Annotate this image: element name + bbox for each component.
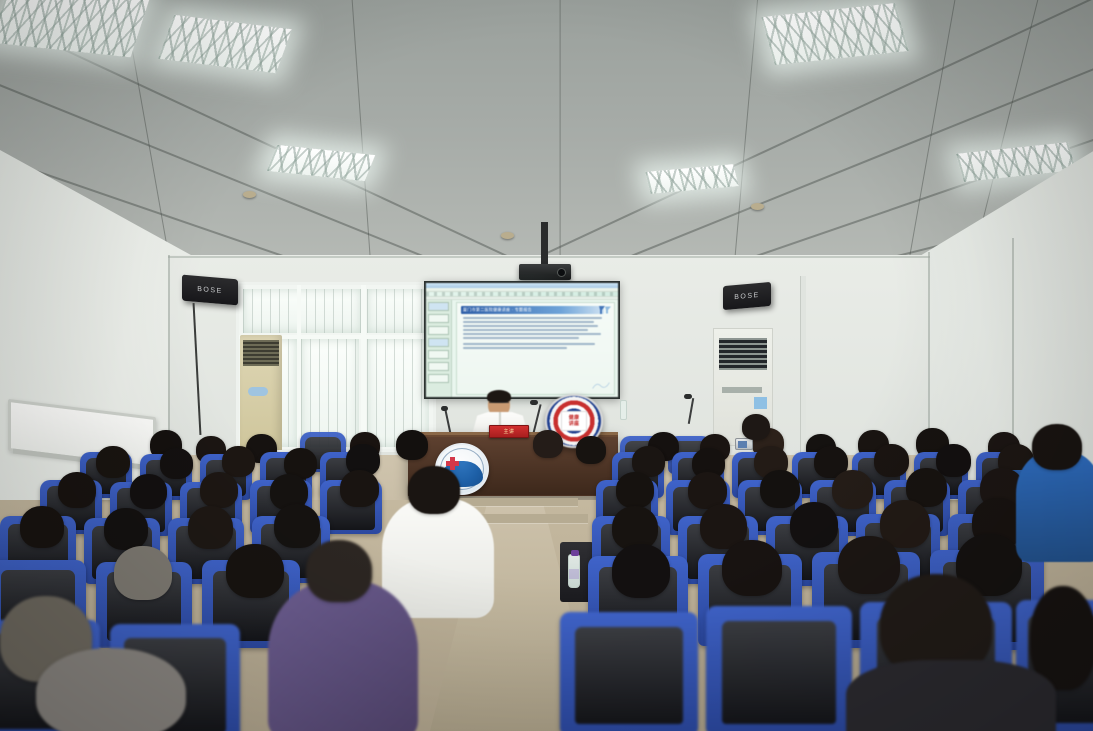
audience-head xyxy=(130,474,167,509)
nameplate-text: 主讲 xyxy=(490,426,528,439)
slide-thumbnail xyxy=(428,326,449,335)
slide-thumbnail xyxy=(428,338,449,347)
audience-head xyxy=(340,470,379,507)
microphone-head-icon xyxy=(441,406,448,411)
audience-head xyxy=(576,436,606,464)
ac-grill-icon xyxy=(719,338,767,370)
bose-speaker-right: BOSE xyxy=(723,282,771,310)
slide-thumbnail xyxy=(428,314,449,323)
audience-person-purple-shirt xyxy=(268,580,418,731)
bose-brand-label: BOSE xyxy=(723,291,771,302)
audience-head xyxy=(222,446,255,477)
audience-head xyxy=(114,546,172,600)
slide-thumbnail xyxy=(428,350,449,359)
seat xyxy=(706,606,852,731)
wall-ceiling-seam xyxy=(168,256,930,258)
audience-head xyxy=(58,472,96,508)
audience-head xyxy=(188,506,233,549)
podium-nameplate: 主讲 xyxy=(489,425,529,438)
audience-head xyxy=(936,444,971,477)
seat xyxy=(560,612,698,731)
banner-text-plate: 健康 讲座 xyxy=(561,411,587,431)
audience-head xyxy=(226,544,284,598)
water-bottle xyxy=(568,554,580,588)
microphone-head-icon xyxy=(684,394,692,399)
slide-canvas: 厦门市第二医院健康讲座 · 专题报告 xyxy=(452,300,618,397)
audience-head xyxy=(790,502,838,548)
slide-watermark-icon xyxy=(592,380,610,390)
compact-camera xyxy=(735,438,753,450)
slide-title-banner: 厦门市第二医院健康讲座 · 专题报告 xyxy=(461,306,604,314)
audience-head xyxy=(742,414,770,440)
ac-grill-icon xyxy=(243,340,279,366)
audience-head xyxy=(832,470,873,509)
microphone-head-icon xyxy=(530,400,538,405)
slide-thumbnail xyxy=(428,362,449,371)
air-conditioner-left xyxy=(240,335,282,450)
projector-lens-icon xyxy=(557,268,566,277)
audience-head xyxy=(722,540,782,596)
audience-head xyxy=(408,466,460,514)
ceiling-projector xyxy=(519,264,571,280)
audience-head xyxy=(874,444,909,477)
slide-body-text xyxy=(463,317,608,390)
slide-corner-logo-icon xyxy=(598,305,612,316)
audience-head xyxy=(160,448,193,479)
smoke-detector-icon xyxy=(243,191,256,198)
current-slide: 厦门市第二医院健康讲座 · 专题报告 xyxy=(456,302,615,395)
bose-speaker-left: BOSE xyxy=(182,275,238,306)
audience-head xyxy=(104,508,148,550)
podium-water-bottle xyxy=(620,400,627,420)
slide-thumbnail xyxy=(428,302,449,311)
audience-head xyxy=(760,470,800,508)
banner-text-line2: 讲座 xyxy=(569,421,580,427)
audience-head xyxy=(396,430,428,460)
window-pane-transom xyxy=(243,289,361,333)
ac-sticker xyxy=(754,397,767,409)
red-cross-icon xyxy=(446,457,459,470)
ac-brand-badge xyxy=(248,387,268,396)
smoke-detector-icon xyxy=(501,232,514,239)
projector-mount-pole xyxy=(541,222,548,270)
audience-head xyxy=(36,648,186,731)
window-pane-transom xyxy=(367,289,429,333)
audience-head xyxy=(96,446,130,478)
slide-thumbnail-sidebar xyxy=(426,300,452,397)
audience-head xyxy=(306,540,372,602)
audience-head xyxy=(616,472,654,508)
audience-head xyxy=(1032,424,1082,470)
smoke-detector-icon xyxy=(751,203,764,210)
audience-head xyxy=(274,504,320,548)
lecture-hall-photograph: BOSE BOSE xyxy=(0,0,1093,731)
audience-head xyxy=(612,544,670,598)
projection-screen: 厦门市第二医院健康讲座 · 专题报告 xyxy=(424,281,620,399)
presenter-glasses-icon xyxy=(489,402,509,406)
bottle-cap xyxy=(571,550,579,556)
slide-thumbnail xyxy=(428,374,449,383)
bottle-label xyxy=(569,569,579,579)
window-pane xyxy=(301,339,359,447)
audience-head xyxy=(838,536,900,594)
ac-conduit-pipe xyxy=(800,276,806,466)
slide-title-text: 厦门市第二医院健康讲座 · 专题报告 xyxy=(461,306,604,314)
audience-head xyxy=(533,430,563,458)
audience-shoulders xyxy=(846,660,1056,731)
ac-label xyxy=(722,387,762,393)
camera-screen-icon xyxy=(738,441,747,448)
audience-head xyxy=(200,472,238,508)
bose-brand-label: BOSE xyxy=(182,284,238,296)
audience-head xyxy=(20,506,64,548)
